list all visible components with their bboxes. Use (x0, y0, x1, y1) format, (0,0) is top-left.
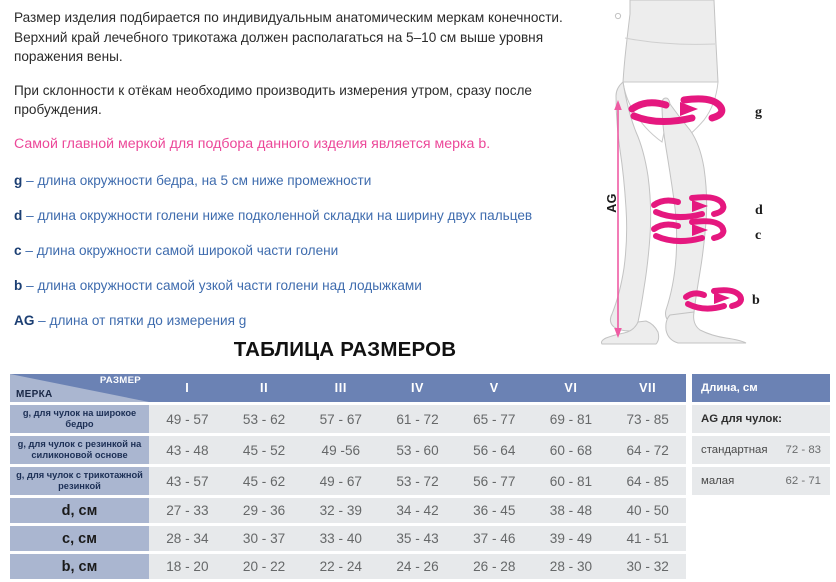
table-row: g, для чулок с резинкой на силиконовой о… (10, 436, 686, 464)
table-cell: 20 - 22 (226, 554, 303, 579)
side-row-value: 72 - 83 (786, 444, 821, 456)
table-cell: 49 -56 (302, 436, 379, 464)
table-cell: 45 - 52 (226, 436, 303, 464)
intro-paragraph-1: Размер изделия подбирается по индивидуал… (14, 8, 600, 67)
table-cell: 53 - 60 (379, 436, 456, 464)
row-cells: 28 - 34 30 - 37 33 - 40 35 - 43 37 - 46 … (149, 526, 686, 551)
table-cell: 26 - 28 (456, 554, 533, 579)
table-cell: 60 - 68 (533, 436, 610, 464)
table-cell: 61 - 72 (379, 405, 456, 433)
measurement-text-d: длина окружности голени ниже подколенной… (37, 208, 532, 223)
table-cell: 43 - 48 (149, 436, 226, 464)
row-cells: 27 - 33 29 - 36 32 - 39 34 - 42 36 - 45 … (149, 498, 686, 523)
table-cell: 29 - 36 (226, 498, 303, 523)
measurement-dash-b: – (26, 278, 34, 293)
measurement-text-ag: длина от пятки до измерения g (50, 313, 247, 328)
table-cell: 28 - 34 (149, 526, 226, 551)
size-table: РАЗМЕР МЕРКА I II III IV V VI VII g, для… (10, 374, 686, 582)
figure-label-g: g (755, 105, 762, 121)
measurement-item-b: b – длина окружности самой узкой части г… (14, 277, 600, 295)
measurement-key-c: c (14, 243, 22, 258)
table-cell: 41 - 51 (609, 526, 686, 551)
side-row-name: стандартная (701, 444, 786, 456)
table-cell: 56 - 64 (456, 436, 533, 464)
column-header-2: II (226, 374, 303, 402)
table-cell: 39 - 49 (533, 526, 610, 551)
measurement-item-d: d – длина окружности голени ниже подколе… (14, 207, 600, 225)
measurement-dash-ag: – (38, 313, 46, 328)
table-cell: 37 - 46 (456, 526, 533, 551)
corner-size-label: РАЗМЕР (100, 375, 141, 386)
intro-paragraph-2: При склонности к отёкам необходимо произ… (14, 81, 600, 120)
measurement-item-ag: AG – длина от пятки до измерения g (14, 312, 600, 330)
row-label: d, см (10, 498, 149, 523)
column-header-7: VII (609, 374, 686, 402)
table-cell: 38 - 48 (533, 498, 610, 523)
measurement-text-g: длина окружности бедра, на 5 см ниже про… (37, 173, 371, 188)
side-panel-row-small: малая 62 - 71 (692, 467, 830, 495)
figure-label-b: b (752, 293, 760, 309)
table-cell: 64 - 85 (609, 467, 686, 495)
row-cells: 43 - 57 45 - 62 49 - 67 53 - 72 56 - 77 … (149, 467, 686, 495)
measurement-dash-c: – (25, 243, 33, 258)
table-cell: 40 - 50 (609, 498, 686, 523)
column-header-3: III (302, 374, 379, 402)
figure-label-ag: AG (605, 193, 619, 213)
row-label: g, для чулок с трикотажной резинкой (10, 467, 149, 495)
length-side-panel: Длина, см AG для чулок: стандартная 72 -… (692, 374, 830, 498)
table-cell: 45 - 62 (226, 467, 303, 495)
measurement-item-g: g – длина окружности бедра, на 5 см ниже… (14, 172, 600, 190)
table-cell: 43 - 57 (149, 467, 226, 495)
table-cell: 53 - 72 (379, 467, 456, 495)
row-cells: 43 - 48 45 - 52 49 -56 53 - 60 56 - 64 6… (149, 436, 686, 464)
figure-label-d: d (755, 203, 763, 219)
side-panel-subtitle: AG для чулок: (701, 413, 782, 425)
table-cell: 69 - 81 (533, 405, 610, 433)
table-cell: 49 - 67 (302, 467, 379, 495)
measurement-key-ag: AG (14, 313, 34, 328)
table-cell: 56 - 77 (456, 467, 533, 495)
table-cell: 60 - 81 (533, 467, 610, 495)
table-cell: 27 - 33 (149, 498, 226, 523)
table-cell: 73 - 85 (609, 405, 686, 433)
table-cell: 18 - 20 (149, 554, 226, 579)
leg-measurement-diagram: g d c b AG (600, 0, 836, 345)
table-cell: 34 - 42 (379, 498, 456, 523)
table-cell: 36 - 45 (456, 498, 533, 523)
table-row: g, для чулок с трикотажной резинкой 43 -… (10, 467, 686, 495)
table-cell: 65 - 77 (456, 405, 533, 433)
table-cell: 28 - 30 (533, 554, 610, 579)
table-header-row: РАЗМЕР МЕРКА I II III IV V VI VII (10, 374, 686, 402)
measurement-legend-list: g – длина окружности бедра, на 5 см ниже… (14, 172, 600, 330)
side-row-name: малая (701, 475, 786, 487)
page-title: ТАБЛИЦА РАЗМЕРОВ (0, 338, 690, 362)
table-cell: 64 - 72 (609, 436, 686, 464)
figure-label-c: c (755, 228, 761, 244)
corner-measure-label: МЕРКА (16, 389, 53, 400)
row-cells: 18 - 20 20 - 22 22 - 24 24 - 26 26 - 28 … (149, 554, 686, 579)
measurement-key-g: g (14, 173, 22, 188)
intro-highlight: Самой главной меркой для подбора данного… (14, 134, 600, 154)
column-header-5: V (456, 374, 533, 402)
table-cell: 49 - 57 (149, 405, 226, 433)
table-cell: 22 - 24 (302, 554, 379, 579)
side-panel-row-standard: стандартная 72 - 83 (692, 436, 830, 464)
row-label: g, для чулок на широкое бедро (10, 405, 149, 433)
table-cell: 57 - 67 (302, 405, 379, 433)
measurement-key-b: b (14, 278, 22, 293)
table-row: b, см 18 - 20 20 - 22 22 - 24 24 - 26 26… (10, 554, 686, 579)
table-row: g, для чулок на широкое бедро 49 - 57 53… (10, 405, 686, 433)
intro-section: Размер изделия подбирается по индивидуал… (0, 0, 836, 332)
measurement-dash-d: – (26, 208, 34, 223)
measurement-key-d: d (14, 208, 22, 223)
table-cell: 30 - 32 (609, 554, 686, 579)
measurement-text-b: длина окружности самой узкой части голен… (37, 278, 421, 293)
table-row: d, см 27 - 33 29 - 36 32 - 39 34 - 42 36… (10, 498, 686, 523)
column-header-1: I (149, 374, 226, 402)
side-panel-subtitle-row: AG для чулок: (692, 405, 830, 433)
table-cell: 30 - 37 (226, 526, 303, 551)
table-corner-cell: РАЗМЕР МЕРКА (10, 374, 149, 402)
column-header-6: VI (533, 374, 610, 402)
table-row: c, см 28 - 34 30 - 37 33 - 40 35 - 43 37… (10, 526, 686, 551)
table-cell: 35 - 43 (379, 526, 456, 551)
measurement-item-c: c – длина окружности самой широкой части… (14, 242, 600, 260)
row-label: g, для чулок с резинкой на силиконовой о… (10, 436, 149, 464)
row-cells: 49 - 57 53 - 62 57 - 67 61 - 72 65 - 77 … (149, 405, 686, 433)
row-label: c, см (10, 526, 149, 551)
b-arrowhead-icon (714, 292, 730, 304)
side-row-value: 62 - 71 (786, 475, 821, 487)
table-cell: 33 - 40 (302, 526, 379, 551)
side-panel-header: Длина, см (692, 374, 830, 402)
measurement-text-c: длина окружности самой широкой части гол… (37, 243, 339, 258)
table-column-headers: I II III IV V VI VII (149, 374, 686, 402)
measurement-dash-g: – (26, 173, 34, 188)
table-cell: 32 - 39 (302, 498, 379, 523)
text-column: Размер изделия подбирается по индивидуал… (14, 8, 600, 330)
table-cell: 53 - 62 (226, 405, 303, 433)
row-label: b, см (10, 554, 149, 579)
column-header-4: IV (379, 374, 456, 402)
table-cell: 24 - 26 (379, 554, 456, 579)
